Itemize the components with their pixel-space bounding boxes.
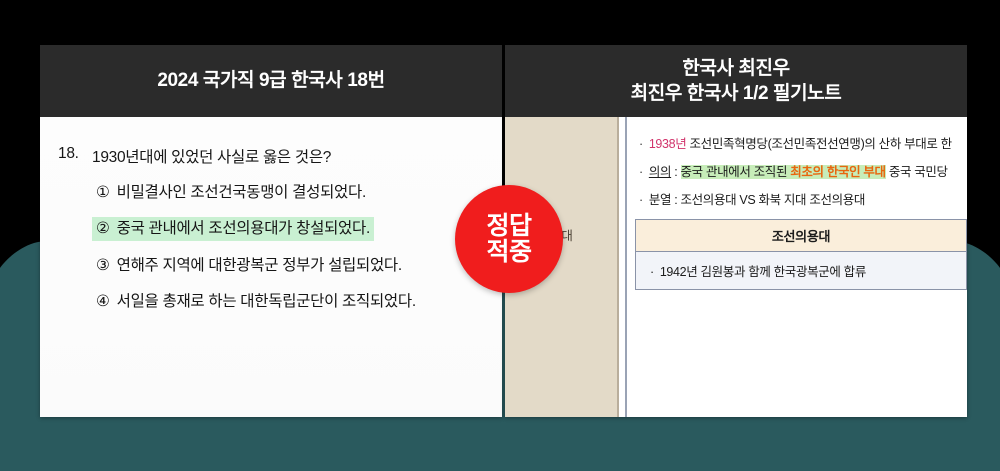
right-panel-title-line1: 한국사 최진우 (682, 56, 789, 81)
right-panel-title-line2: 최진우 한국사 1/2 필기노트 (631, 81, 842, 106)
stamp-line-2: 적중 (486, 239, 531, 265)
note-bullet-3-text: 분열 : 조선의용대 VS 화북 지대 조선의용대 (649, 193, 865, 207)
note-bullet-3: ·분열 : 조선의용대 VS 화북 지대 조선의용대 (627, 191, 967, 210)
note-bullet-1-rest: 조선민족혁명당(조선민족전선연맹)의 산하 부대로 한 (690, 137, 952, 151)
note-page: 조선의용대 ·1938년 조선민족혁명당(조선민족전선연맹)의 산하 부대로 한… (505, 117, 967, 417)
exam-sheet: 18. 1930년대에 있었던 사실로 옳은 것은? ①비밀결사인 조선건국동맹… (40, 117, 502, 417)
answer-choice-3[interactable]: ③연해주 지역에 대한광복군 정부가 설립되었다. (92, 254, 406, 277)
note-bullet-2-tail: 중국 국민당 (886, 165, 948, 179)
note-table: 조선의용대 ·1942년 김원봉과 함께 한국광복군에 합류 (635, 219, 967, 290)
correct-answer-stamp: 정답 적중 (455, 185, 563, 293)
choice-text-4: 서일을 총재로 하는 대한독립군단이 조직되었다. (117, 293, 416, 310)
note-table-row-text: 1942년 김원봉과 함께 한국광복군에 합류 (660, 265, 866, 279)
choice-marker-4: ④ (96, 293, 110, 310)
note-bullet-2: ·의의 : 중국 관내에서 조직된 최초의 한국인 부대 중국 국민당 (627, 163, 967, 182)
question-number: 18. (58, 145, 92, 167)
question-text: 1930년대에 있었던 사실로 옳은 것은? (92, 145, 484, 167)
stamp-line-1: 정답 (486, 213, 531, 239)
left-panel-header: 2024 국가직 9급 한국사 18번 (40, 45, 502, 117)
right-panel-body: 조선의용대 ·1938년 조선민족혁명당(조선민족전선연맹)의 산하 부대로 한… (505, 117, 967, 417)
answer-choice-2[interactable]: ②중국 관내에서 조선의용대가 창설되었다. (92, 217, 374, 240)
choice-marker-2: ② (96, 220, 110, 237)
note-bullet-1-year: 1938년 (649, 137, 690, 151)
note-bullet-2-highlight: 중국 관내에서 조직된 (681, 165, 791, 179)
note-bullet-2-sep: : (671, 165, 680, 179)
question-stem: 18. 1930년대에 있었던 사실로 옳은 것은? (58, 145, 484, 167)
choice-row-1: ①비밀결사인 조선건국동맹이 결성되었다. (58, 181, 484, 217)
note-table-row-dot: · (650, 265, 654, 279)
right-panel-header: 한국사 최진우 최진우 한국사 1/2 필기노트 (505, 45, 967, 117)
note-table-header: 조선의용대 (636, 220, 966, 252)
note-bullet-1: ·1938년 조선민족혁명당(조선민족전선연맹)의 산하 부대로 한 (627, 135, 967, 154)
screenshot-stage: 2024 국가직 9급 한국사 18번 18. 1930년대에 있었던 사실로 … (0, 0, 1000, 471)
choice-text-2: 중국 관내에서 조선의용대가 창설되었다. (117, 220, 370, 237)
note-main-column: ·1938년 조선민족혁명당(조선민족전선연맹)의 산하 부대로 한 ·의의 :… (625, 117, 967, 417)
choice-row-3: ③연해주 지역에 대한광복군 정부가 설립되었다. (58, 254, 484, 290)
left-panel-exam-question: 2024 국가직 9급 한국사 18번 18. 1930년대에 있었던 사실로 … (40, 45, 502, 417)
answer-choice-1[interactable]: ①비밀결사인 조선건국동맹이 결성되었다. (92, 181, 370, 204)
note-bullet-2-emphasis: 최초의 한국인 부대 (790, 165, 885, 179)
right-panel-lecture-note: 한국사 최진우 최진우 한국사 1/2 필기노트 조선의용대 ·1938년 조선… (505, 45, 967, 417)
note-bullet-2-label: 의의 (649, 165, 671, 179)
bullet-dot-3: · (639, 193, 643, 207)
choice-row-2: ②중국 관내에서 조선의용대가 창설되었다. (58, 217, 484, 253)
bullet-dot-2: · (639, 165, 643, 179)
answer-choice-4[interactable]: ④서일을 총재로 하는 대한독립군단이 조직되었다. (92, 290, 420, 313)
left-panel-title: 2024 국가직 9급 한국사 18번 (157, 68, 384, 93)
bullet-dot-1: · (639, 137, 643, 151)
choice-text-1: 비밀결사인 조선건국동맹이 결성되었다. (117, 184, 366, 201)
choice-text-3: 연해주 지역에 대한광복군 정부가 설립되었다. (117, 257, 402, 274)
note-table-row: ·1942년 김원봉과 함께 한국광복군에 합류 (636, 252, 966, 289)
choice-marker-1: ① (96, 184, 110, 201)
left-panel-body: 18. 1930년대에 있었던 사실로 옳은 것은? ①비밀결사인 조선건국동맹… (40, 117, 502, 417)
choice-row-4: ④서일을 총재로 하는 대한독립군단이 조직되었다. (58, 290, 484, 326)
choice-marker-3: ③ (96, 257, 110, 274)
